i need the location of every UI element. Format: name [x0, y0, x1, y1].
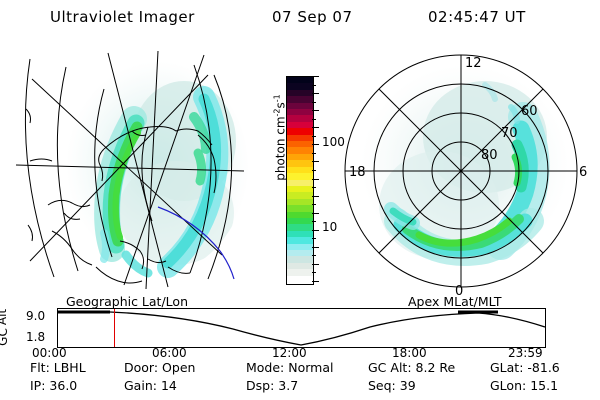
colorbar-swatch [287, 276, 313, 282]
status-mode-value: Normal [288, 360, 333, 375]
colorbar-unit-mid: s [274, 102, 288, 108]
strip-plot-area[interactable] [57, 308, 546, 348]
strip-ylabel-gc: GC [0, 328, 10, 346]
orbit-altitude-strip[interactable]: GC Alt 9.0 1.8 00:00 06:00 12:00 18:00 2… [0, 306, 600, 354]
status-glat-key: GLat: [490, 360, 523, 375]
observation-time: 02:45:47 UT [428, 8, 526, 26]
strip-ytick-top: 9.0 [26, 309, 45, 323]
status-gain: Gain: 14 [124, 378, 177, 393]
colorbar-ticks [312, 76, 320, 283]
status-gcalt: GC Alt: 8.2 Re [368, 360, 455, 375]
status-seq-key: Seq: [368, 378, 396, 393]
mlat-label-70: 70 [501, 126, 518, 141]
status-glat: GLat: -81.6 [490, 360, 560, 375]
strip-ylabel-alt: Alt [0, 309, 9, 325]
status-gcalt-key: GC Alt: [368, 360, 412, 375]
mlat-label-60: 60 [521, 104, 538, 119]
status-block: Flt: LBHL Door: Open Mode: Normal GC Alt… [0, 360, 600, 400]
status-glon-value: 15.1 [530, 378, 558, 393]
xtick-0000: 00:00 [32, 346, 67, 360]
xtick-2359: 23:59 [508, 346, 543, 360]
status-seq: Seq: 39 [368, 378, 416, 393]
status-glon-key: GLon: [490, 378, 526, 393]
status-gain-value: 14 [161, 378, 177, 393]
status-flt-key: Flt: [30, 360, 50, 375]
status-dsp-value: 3.7 [278, 378, 298, 393]
mlat-label-80: 80 [481, 148, 498, 163]
colorbar-unit-sup1: -2 [273, 108, 282, 116]
xtick-0600: 06:00 [152, 346, 187, 360]
status-flt: Flt: LBHL [30, 360, 86, 375]
aurora-emission-apex [361, 65, 569, 265]
apex-polar-grid [345, 55, 577, 287]
colorbar-unit-sup2: -1 [273, 94, 282, 102]
current-time-marker [114, 309, 115, 347]
status-flt-value: LBHL [54, 360, 86, 375]
status-glat-value: -81.6 [527, 360, 559, 375]
colorbar-gradient [286, 76, 314, 285]
header-bar: Ultraviolet Imager 07 Sep 07 02:45:47 UT [0, 8, 600, 32]
status-gain-key: Gain: [124, 378, 157, 393]
status-seq-value: 39 [400, 378, 416, 393]
status-dsp-key: Dsp: [246, 378, 274, 393]
status-ip-value: 36.0 [49, 378, 77, 393]
colorbar-unit-main: photon cm [274, 116, 288, 180]
mlt-label-18: 18 [349, 165, 366, 180]
mlt-label-12: 12 [465, 56, 482, 71]
status-door-value: Open [162, 360, 195, 375]
status-ip-key: IP: [30, 378, 45, 393]
altitude-curve [58, 309, 545, 347]
status-glon: GLon: 15.1 [490, 378, 558, 393]
status-door: Door: Open [124, 360, 195, 375]
strip-ytick-bottom: 1.8 [26, 330, 45, 344]
status-gcalt-value: 8.2 Re [416, 360, 456, 375]
apex-mlt-panel[interactable]: 12 6 0 18 60 70 80 [335, 45, 593, 297]
status-dsp: Dsp: 3.7 [246, 378, 298, 393]
status-mode: Mode: Normal [246, 360, 334, 375]
instrument-title: Ultraviolet Imager [50, 8, 195, 26]
mlt-label-6: 6 [579, 165, 587, 180]
status-ip: IP: 36.0 [30, 378, 77, 393]
status-door-key: Door: [124, 360, 158, 375]
status-mode-key: Mode: [246, 360, 284, 375]
geographic-image-panel[interactable] [8, 45, 253, 295]
colorbar-axis-label: photon cm-2s-1 [273, 78, 288, 198]
observation-date: 07 Sep 07 [272, 8, 352, 26]
xtick-1800: 18:00 [392, 346, 427, 360]
xtick-1200: 12:00 [272, 346, 307, 360]
colorbar[interactable]: 100 10 photon cm-2s-1 [258, 70, 330, 290]
